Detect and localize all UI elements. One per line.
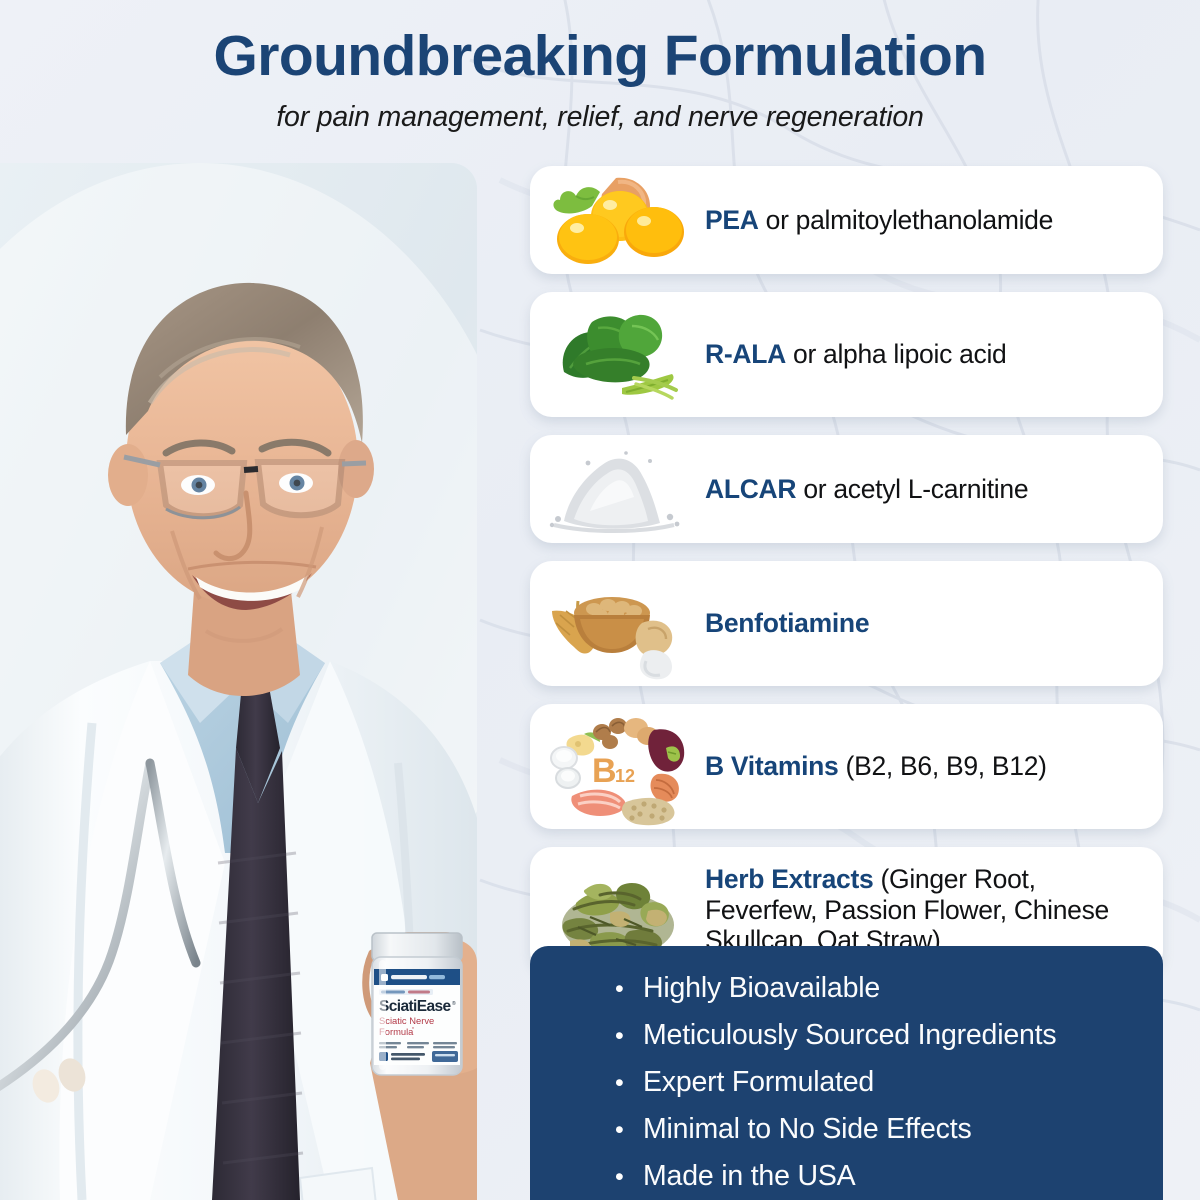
bullet-icon: • — [615, 977, 643, 1002]
ingredient-card-pea[interactable]: PEA or palmitoylethanolamide — [530, 166, 1163, 274]
ingredient-card-alcar[interactable]: ALCAR or acetyl L-carnitine — [530, 435, 1163, 543]
ingredient-card-r-ala[interactable]: R-ALA or alpha lipoic acid — [530, 292, 1163, 417]
doctor-photo: SciatiEase ® Sciatic Nerve Formula * — [0, 163, 477, 1200]
benefit-label: Made in the USA — [643, 1156, 855, 1196]
benefit-label: Expert Formulated — [643, 1062, 874, 1102]
page-title: Groundbreaking Formulation — [0, 0, 1200, 85]
benefit-item: • Meticulously Sourced Ingredients — [615, 1015, 1163, 1055]
white-powder-icon — [530, 435, 705, 543]
ingredient-name-b-vitamins: B Vitamins — [705, 751, 838, 781]
egg-yolks-icon — [530, 166, 705, 274]
benefit-label: Minimal to No Side Effects — [643, 1109, 972, 1149]
benefit-item: • Expert Formulated — [615, 1062, 1163, 1102]
ingredient-name-benfotiamine: Benfotiamine — [705, 608, 869, 638]
ingredient-name-alcar: ALCAR — [705, 474, 796, 504]
benefit-item: • Minimal to No Side Effects — [615, 1109, 1163, 1149]
page-subtitle: for pain management, relief, and nerve r… — [0, 85, 1200, 134]
ingredient-desc-alcar: or acetyl L-carnitine — [796, 474, 1028, 504]
benefits-box: • Highly Bioavailable • Meticulously Sou… — [530, 946, 1163, 1200]
svg-text:*: * — [412, 1027, 414, 1033]
ingredient-name-pea: PEA — [705, 205, 759, 235]
wheat-bowl-icon — [530, 561, 705, 686]
benefit-label: Meticulously Sourced Ingredients — [643, 1015, 1056, 1055]
benefit-item: • Highly Bioavailable — [615, 968, 1163, 1008]
ingredient-card-benfotiamine[interactable]: Benfotiamine — [530, 561, 1163, 686]
svg-text:SciatiEase: SciatiEase — [379, 998, 452, 1015]
spinach-leaves-icon — [530, 292, 705, 417]
ingredient-desc-b-vitamins: (B2, B6, B9, B12) — [838, 751, 1046, 781]
ingredient-card-list: PEA or palmitoylethanolamide — [530, 166, 1163, 991]
ingredient-label-pea: PEA or palmitoylethanolamide — [705, 205, 1163, 236]
bullet-icon: • — [615, 1071, 643, 1096]
ingredient-label-alcar: ALCAR or acetyl L-carnitine — [705, 474, 1163, 505]
ingredient-label-r-ala: R-ALA or alpha lipoic acid — [705, 339, 1163, 370]
ingredient-label-herb-extracts: Herb Extracts (Ginger Root, Feverfew, Pa… — [705, 864, 1163, 956]
bullet-icon: • — [615, 1024, 643, 1049]
ingredient-name-r-ala: R-ALA — [705, 339, 786, 369]
svg-text:Sciatic Nerve: Sciatic Nerve — [379, 1015, 434, 1026]
ingredient-label-b-vitamins: B Vitamins (B2, B6, B9, B12) — [705, 751, 1163, 782]
svg-text:B: B — [592, 752, 617, 790]
ingredient-desc-pea: or palmitoylethanolamide — [759, 205, 1053, 235]
header: Groundbreaking Formulation for pain mana… — [0, 0, 1200, 160]
doctor-photo-panel: SciatiEase ® Sciatic Nerve Formula * — [0, 163, 477, 1200]
bullet-icon: • — [615, 1118, 643, 1143]
b12-foods-circle-icon: B 12 — [530, 704, 705, 829]
ingredient-label-benfotiamine: Benfotiamine — [705, 608, 1163, 639]
benefit-item: • Made in the USA — [615, 1156, 1163, 1196]
bullet-icon: • — [615, 1165, 643, 1190]
ingredient-desc-r-ala: or alpha lipoic acid — [786, 339, 1007, 369]
ingredient-card-b-vitamins[interactable]: B 12 B Vitamins (B2, B6, B9, B12) — [530, 704, 1163, 829]
svg-text:®: ® — [452, 1000, 456, 1007]
ingredient-name-herb-extracts: Herb Extracts — [705, 864, 873, 894]
benefit-label: Highly Bioavailable — [643, 968, 880, 1008]
svg-text:12: 12 — [615, 766, 635, 786]
supplement-bottle: SciatiEase ® Sciatic Nerve Formula * — [372, 933, 462, 1075]
